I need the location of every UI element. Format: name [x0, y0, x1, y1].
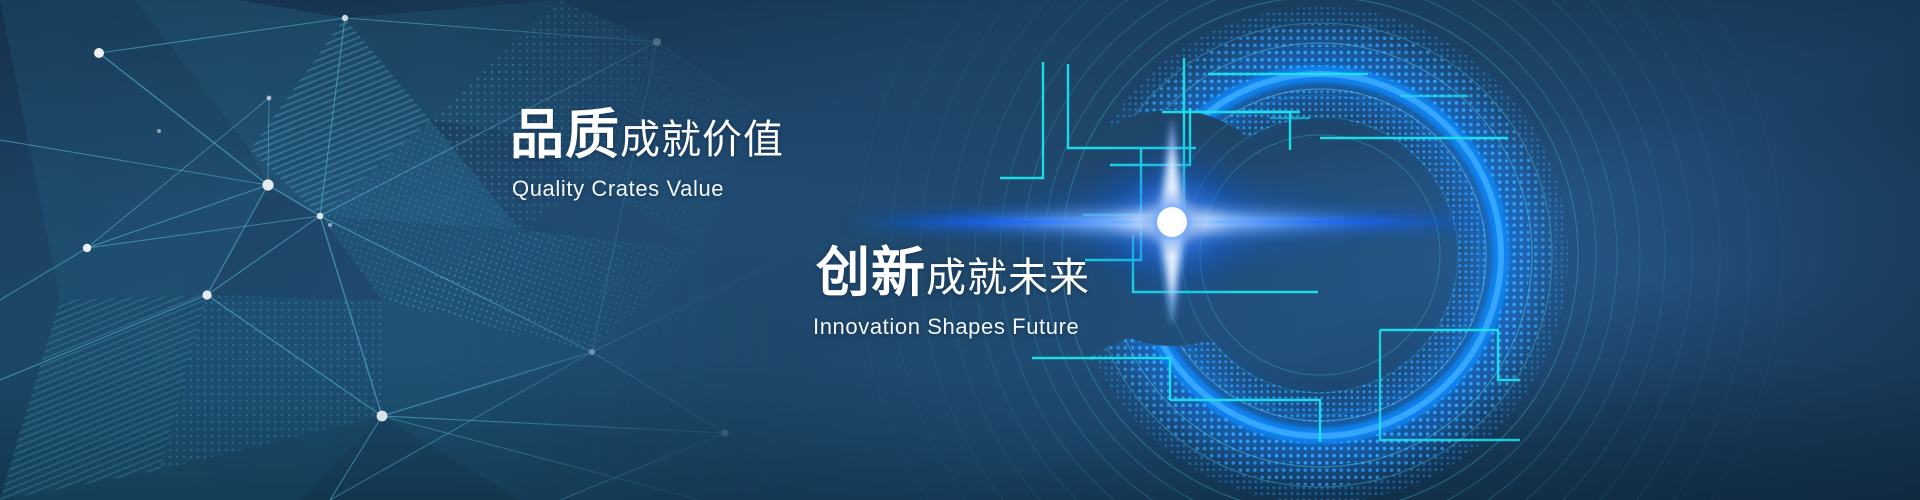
headline-innovation-cn: 创新成就未来: [816, 246, 1090, 300]
headline-quality-cn: 品质成就价值: [510, 108, 784, 162]
headline-innovation-cn-light: 成就未来: [926, 256, 1090, 300]
headline-quality: 品质成就价值 Quality Crates Value: [510, 108, 784, 202]
poly-facets: [0, 0, 800, 500]
headline-quality-cn-strong: 品质: [510, 105, 620, 165]
headline-quality-cn-light: 成就价值: [620, 118, 784, 162]
poly-nodes: [83, 15, 729, 437]
headline-innovation: 创新成就未来 Innovation Shapes Future: [816, 246, 1090, 340]
hero-banner: 品质成就价值 Quality Crates Value 创新成就未来 Innov…: [0, 0, 1920, 500]
ring-halftone-bands: [1080, 15, 1560, 495]
headline-innovation-en: Innovation Shapes Future: [813, 314, 1090, 340]
poly-textures: [0, 0, 760, 500]
headline-quality-en: Quality Crates Value: [512, 176, 784, 202]
poly-edges: [0, 18, 800, 500]
headline-innovation-cn-strong: 创新: [816, 243, 926, 303]
